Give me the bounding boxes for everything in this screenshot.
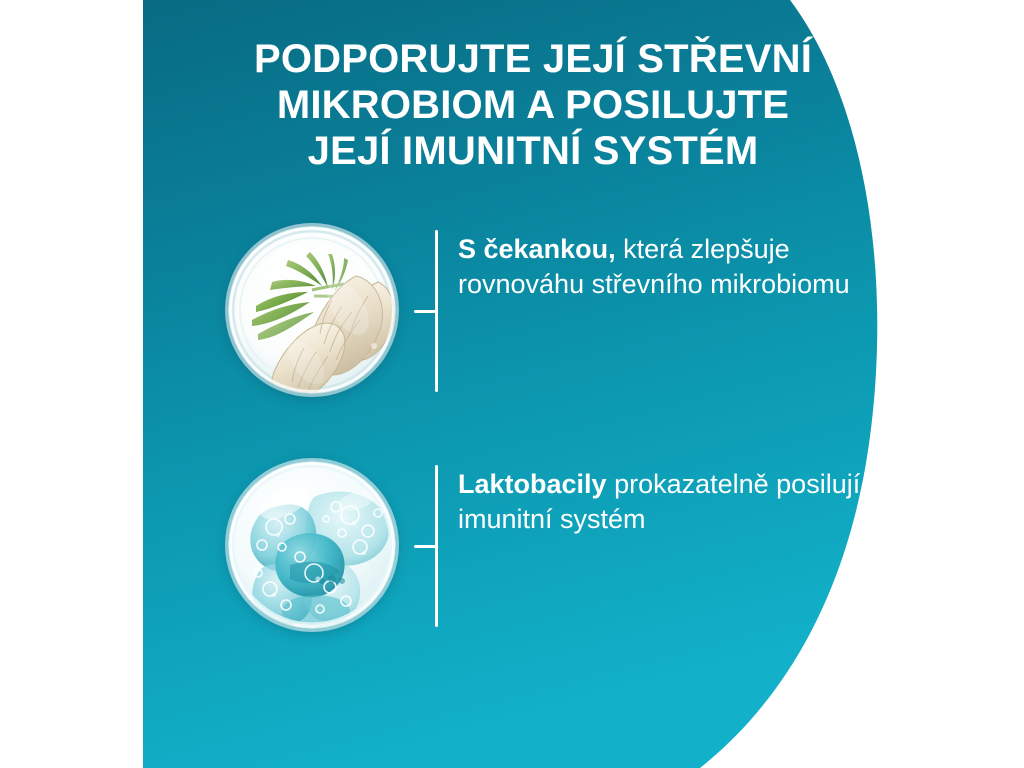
feature-text-cekanka: S čekankou, která zlepšuje rovnováhu stř…: [458, 232, 878, 302]
promo-banner: PODPORUJTE JEJÍ STŘEVNÍ MIKROBIOM A POSI…: [0, 0, 1024, 768]
divider-tick-icon: [414, 545, 436, 548]
page-title: PODPORUJTE JEJÍ STŘEVNÍ MIKROBIOM A POSI…: [180, 36, 886, 174]
feature-lead-laktobacily: Laktobacily: [458, 469, 607, 499]
lactobacilli-culture-photo: [228, 461, 396, 629]
feature-divider: [414, 230, 438, 392]
chicory-roots-photo: [228, 226, 396, 394]
feature-divider: [414, 465, 438, 627]
page-title-line-3: JEJÍ IMUNITNÍ SYSTÉM: [180, 128, 886, 174]
divider-tick-icon: [414, 310, 436, 313]
feature-item-cekanka: S čekankou, která zlepšuje rovnováhu stř…: [0, 222, 1024, 412]
feature-item-laktobacily: Laktobacily prokazatelně posilují imunit…: [0, 457, 1024, 647]
page-title-line-2: MIKROBIOM A POSILUJTE: [180, 82, 886, 128]
feature-text-laktobacily: Laktobacily prokazatelně posilují imunit…: [458, 467, 878, 537]
feature-lead-cekanka: S čekankou,: [458, 234, 616, 264]
page-title-line-1: PODPORUJTE JEJÍ STŘEVNÍ: [180, 36, 886, 82]
